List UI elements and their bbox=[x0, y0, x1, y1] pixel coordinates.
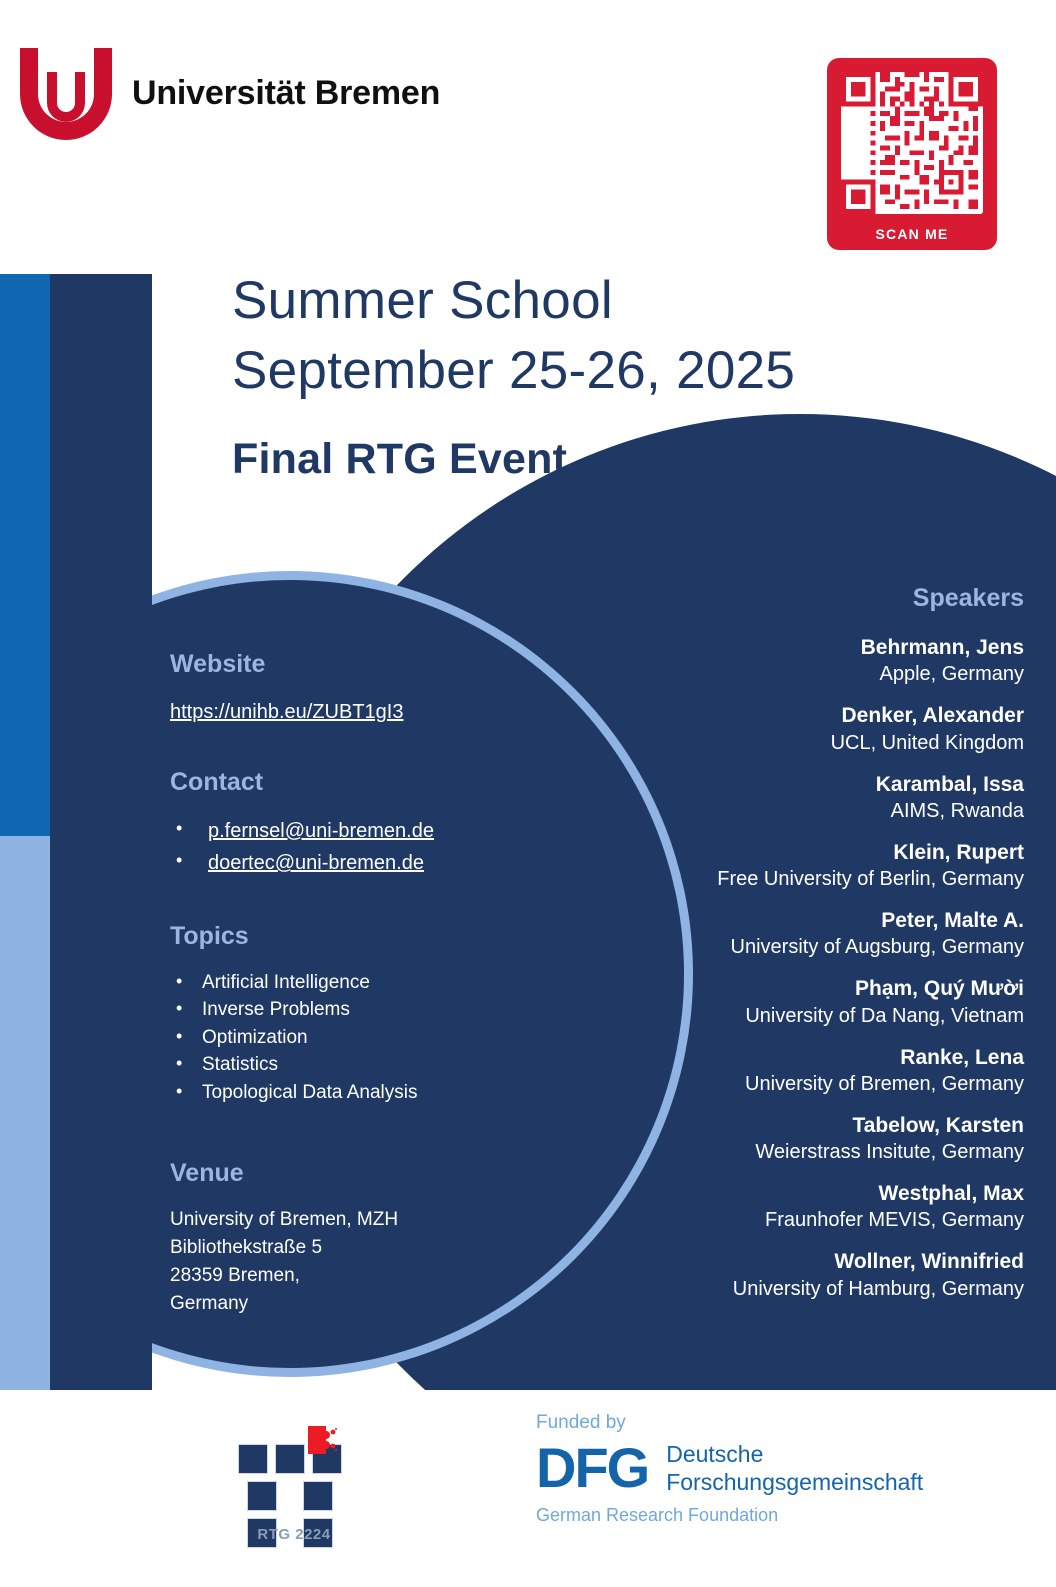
speaker-affiliation: Fraunhofer MEVIS, Germany bbox=[554, 1207, 1024, 1233]
page-title: Summer School September 25-26, 2025 bbox=[232, 266, 932, 407]
list-item: Inverse Problems bbox=[170, 996, 510, 1024]
speaker-entry: Denker, Alexander UCL, United Kingdom bbox=[554, 703, 1024, 755]
speaker-entry: Behrmann, Jens Apple, Germany bbox=[554, 635, 1024, 687]
speaker-name: Klein, Rupert bbox=[554, 840, 1024, 866]
speaker-entry: Ranke, Lena University of Bremen, German… bbox=[554, 1045, 1024, 1097]
left-band-light-blue bbox=[0, 836, 50, 1390]
contact-heading: Contact bbox=[170, 768, 510, 797]
speaker-affiliation: AIMS, Rwanda bbox=[554, 798, 1024, 824]
qr-code-block[interactable]: SCAN ME bbox=[827, 58, 997, 250]
funded-by-label: Funded by bbox=[536, 1412, 956, 1434]
dfg-logo: Funded by DFG Deutsche Forschungsgemeins… bbox=[536, 1412, 956, 1526]
list-item: doertec@uni-bremen.de bbox=[170, 847, 510, 879]
speaker-name: Ranke, Lena bbox=[554, 1045, 1024, 1071]
university-logo: Universität Bremen bbox=[20, 48, 440, 140]
dfg-english-name: German Research Foundation bbox=[536, 1505, 956, 1526]
speaker-affiliation: Weierstrass Insitute, Germany bbox=[554, 1139, 1024, 1165]
website-link[interactable]: https://unihb.eu/ZUBT1gI3 bbox=[170, 701, 510, 724]
speakers-heading: Speakers bbox=[554, 584, 1024, 613]
contact-email-link[interactable]: doertec@uni-bremen.de bbox=[208, 852, 424, 874]
scan-me-label: SCAN ME bbox=[827, 226, 997, 242]
poster-header: Universität Bremen bbox=[0, 0, 1056, 270]
speaker-name: Phạm, Quý Mười bbox=[554, 976, 1024, 1002]
speaker-name: Peter, Malte A. bbox=[554, 908, 1024, 934]
speaker-affiliation: Free University of Berlin, Germany bbox=[554, 866, 1024, 892]
title-block: Summer School September 25-26, 2025 Fina… bbox=[232, 266, 932, 484]
speaker-affiliation: Apple, Germany bbox=[554, 661, 1024, 687]
speaker-name: Tabelow, Karsten bbox=[554, 1113, 1024, 1139]
speaker-affiliation: University of Da Nang, Vietnam bbox=[554, 1003, 1024, 1029]
dfg-wordmark: DFG bbox=[536, 1440, 648, 1496]
university-name: Universität Bremen bbox=[132, 74, 440, 113]
speaker-affiliation: University of Bremen, Germany bbox=[554, 1071, 1024, 1097]
list-item: Artificial Intelligence bbox=[170, 969, 510, 997]
list-item: Optimization bbox=[170, 1024, 510, 1052]
left-band-mid-blue bbox=[0, 274, 50, 836]
list-item: p.fernsel@uni-bremen.de bbox=[170, 815, 510, 847]
speaker-affiliation: University of Hamburg, Germany bbox=[554, 1276, 1024, 1302]
speaker-affiliation: UCL, United Kingdom bbox=[554, 730, 1024, 756]
speaker-name: Wollner, Winnifried bbox=[554, 1249, 1024, 1275]
rtg-label: RTG 2224 bbox=[238, 1526, 350, 1543]
topics-list: Artificial Intelligence Inverse Problems… bbox=[170, 969, 510, 1107]
qr-code-icon bbox=[841, 72, 983, 214]
speaker-entry: Phạm, Quý Mười University of Da Nang, Vi… bbox=[554, 976, 1024, 1028]
venue-address: University of Bremen, MZH Bibliothekstra… bbox=[170, 1206, 510, 1318]
speaker-name: Denker, Alexander bbox=[554, 703, 1024, 729]
venue-heading: Venue bbox=[170, 1159, 510, 1188]
speaker-entry: Westphal, Max Fraunhofer MEVIS, Germany bbox=[554, 1181, 1024, 1233]
left-band-navy bbox=[50, 274, 145, 1390]
contact-list: p.fernsel@uni-bremen.de doertec@uni-brem… bbox=[170, 815, 510, 880]
speaker-name: Karambal, Issa bbox=[554, 772, 1024, 798]
speaker-entry: Klein, Rupert Free University of Berlin,… bbox=[554, 840, 1024, 892]
speakers-section: Speakers Behrmann, Jens Apple, Germany D… bbox=[554, 584, 1024, 1318]
info-column: Website https://unihb.eu/ZUBT1gI3 Contac… bbox=[170, 650, 510, 1318]
speaker-affiliation: University of Augsburg, Germany bbox=[554, 934, 1024, 960]
contact-email-link[interactable]: p.fernsel@uni-bremen.de bbox=[208, 820, 434, 842]
speaker-name: Westphal, Max bbox=[554, 1181, 1024, 1207]
page-subtitle: Final RTG Event bbox=[232, 435, 932, 484]
speaker-entry: Peter, Malte A. University of Augsburg, … bbox=[554, 908, 1024, 960]
website-heading: Website bbox=[170, 650, 510, 679]
dfg-name: Deutsche Forschungsgemeinschaft bbox=[666, 1440, 923, 1496]
rtg-logo: RTG 2224 bbox=[238, 1418, 358, 1548]
speaker-entry: Tabelow, Karsten Weierstrass Insitute, G… bbox=[554, 1113, 1024, 1165]
speaker-entry: Wollner, Winnifried University of Hambur… bbox=[554, 1249, 1024, 1301]
puzzle-piece-icon bbox=[306, 1424, 338, 1456]
speaker-name: Behrmann, Jens bbox=[554, 635, 1024, 661]
topics-heading: Topics bbox=[170, 922, 510, 951]
university-u-mark-icon bbox=[20, 48, 112, 140]
speaker-entry: Karambal, Issa AIMS, Rwanda bbox=[554, 772, 1024, 824]
list-item: Topological Data Analysis bbox=[170, 1079, 510, 1107]
list-item: Statistics bbox=[170, 1051, 510, 1079]
